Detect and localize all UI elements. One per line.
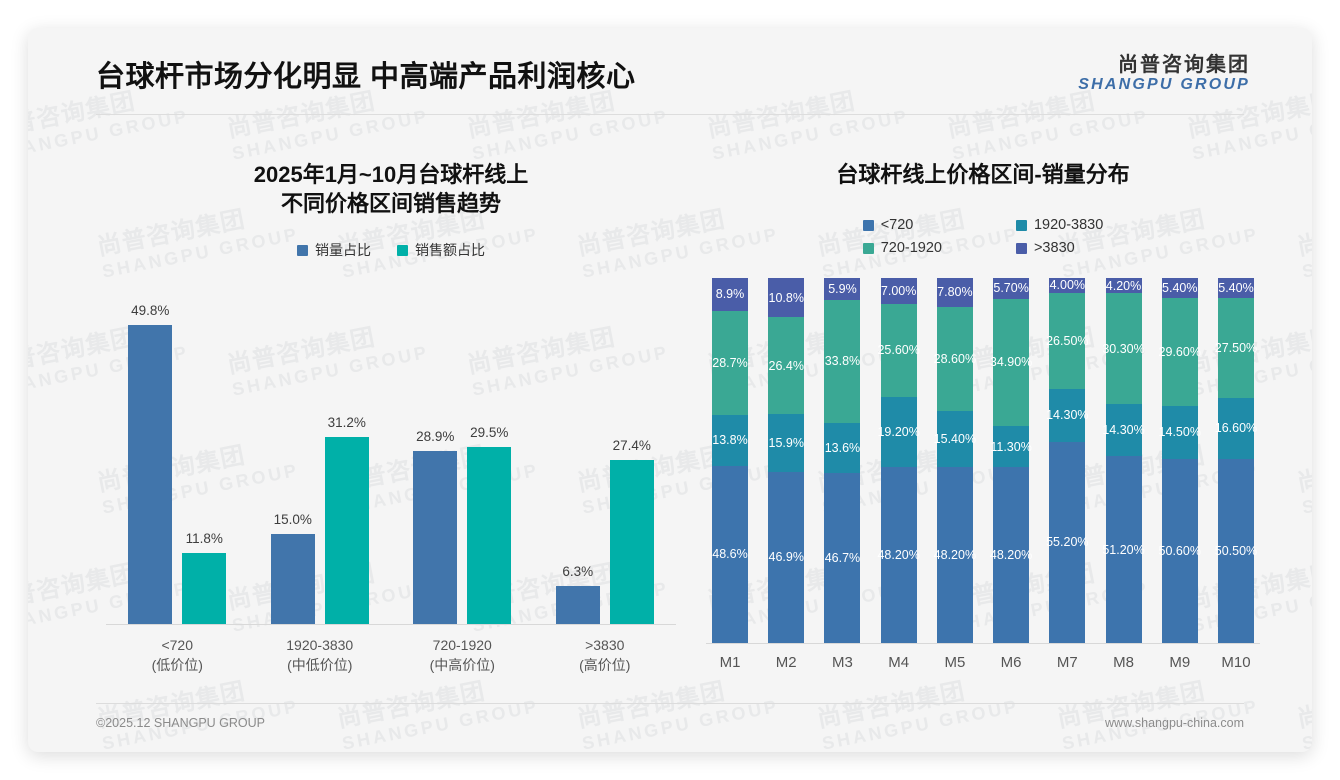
right-chart-title: 台球杆线上价格区间-销量分布 [700,138,1266,189]
page-title: 台球杆市场分化明显 中高端产品利润核心 [96,53,636,95]
segment-value-label: 5.40% [1218,281,1253,295]
bar-value-label: 11.8% [186,531,223,546]
bar[interactable]: 6.3% [556,586,600,624]
stacked-bar-segment[interactable]: 10.8% [768,278,804,317]
x-axis-category-sub: (高价位) [540,655,670,675]
bar-group: 49.8%11.8% [128,294,226,624]
bar-fill [271,534,315,624]
stacked-bar-segment[interactable]: 33.8% [824,300,860,423]
stacked-bar[interactable]: 5.9%33.8%13.6%46.7% [824,278,860,643]
right-chart-panel: 台球杆线上价格区间-销量分布 <7201920-3830720-1920>383… [700,138,1266,718]
legend-item[interactable]: 销量占比 [297,240,371,260]
legend-swatch [397,245,408,256]
segment-value-label: 34.90% [990,355,1032,369]
grouped-bar-x-axis: <720(低价位)1920-3830(中低价位)720-1920(中高价位)>3… [106,625,676,676]
segment-value-label: 27.50% [1215,341,1257,355]
stacked-bar-segment[interactable]: 48.6% [712,466,748,643]
segment-value-label: 50.60% [1159,544,1201,558]
segment-value-label: 16.60% [1215,421,1257,435]
stacked-bar[interactable]: 5.40%27.50%16.60%50.50% [1218,278,1254,643]
segment-value-label: 15.40% [934,432,976,446]
bar-value-label: 28.9% [416,429,454,444]
logo-text-cn: 尚普咨询集团 [1078,54,1250,76]
left-chart-title-line1: 2025年1月~10月台球杆线上 [96,160,686,189]
footer-divider [96,703,1244,704]
segment-value-label: 33.8% [825,354,860,368]
bar[interactable]: 29.5% [467,447,511,624]
stacked-bar-segment[interactable]: 15.40% [937,411,973,467]
legend-swatch [863,220,874,231]
legend-item[interactable]: 销售额占比 [397,240,485,260]
segment-value-label: 14.50% [1159,425,1201,439]
slide-header: 台球杆市场分化明显 中高端产品利润核心 尚普咨询集团 SHANGPU GROUP [28,28,1312,100]
stacked-bar-segment[interactable]: 55.20% [1049,442,1085,643]
stacked-bar-segment[interactable]: 4.00% [1049,278,1085,293]
segment-value-label: 26.4% [768,359,803,373]
right-chart-legend: <7201920-3830720-1920>3830 [700,217,1266,256]
segment-value-label: 13.8% [712,433,747,447]
stacked-bar-segment[interactable]: 50.50% [1218,459,1254,643]
segment-value-label: 48.20% [990,548,1032,562]
stacked-bar-segment[interactable]: 4.20% [1106,278,1142,293]
stacked-bar-segment[interactable]: 27.50% [1218,298,1254,398]
segment-value-label: 13.6% [825,441,860,455]
stacked-bar-plot: 8.9%28.7%13.8%48.6%10.8%26.4%15.9%46.9%5… [706,278,1260,644]
bar-value-label: 6.3% [562,564,593,579]
segment-value-label: 7.00% [881,284,916,298]
left-chart-title-line2: 不同价格区间销售趋势 [96,189,686,218]
segment-value-label: 4.20% [1106,279,1141,293]
stacked-bar-segment[interactable]: 29.60% [1162,298,1198,406]
x-axis-category-sub: (低价位) [112,655,242,675]
segment-value-label: 5.40% [1162,281,1197,295]
segment-value-label: 11.30% [990,440,1031,454]
stacked-bar-segment[interactable]: 16.60% [1218,398,1254,459]
watermark-text: 尚普咨询集团SHANGPU GROUP [1295,433,1312,517]
stacked-bar-segment[interactable]: 14.30% [1049,389,1085,441]
stacked-bar-segment[interactable]: 48.20% [993,467,1029,643]
legend-label: 720-1920 [881,240,942,256]
legend-label: <720 [881,217,914,233]
segment-value-label: 30.30% [1102,342,1144,356]
legend-label: 销售额占比 [415,240,485,260]
stacked-bar-segment[interactable]: 48.20% [937,467,973,643]
stacked-bar-segment[interactable]: 34.90% [993,299,1029,426]
segment-value-label: 4.00% [1050,278,1085,292]
bar-fill [467,447,511,624]
segment-value-label: 5.70% [993,281,1028,295]
bar-fill [182,553,226,624]
stacked-bar[interactable]: 5.70%34.90%11.30%48.20% [993,278,1029,643]
watermark-text: 尚普咨询集团SHANGPU GROUP [1295,669,1312,752]
x-axis-tick-label: M9 [1162,654,1198,671]
stacked-bar-segment[interactable]: 26.4% [768,317,804,413]
segment-value-label: 55.20% [1046,535,1088,549]
stacked-bar-segment[interactable]: 28.7% [712,311,748,416]
bar[interactable]: 31.2% [325,437,369,624]
stacked-bar-segment[interactable]: 11.30% [993,426,1029,467]
x-axis-tick-label: M6 [993,654,1029,671]
stacked-bar[interactable]: 7.00%25.60%19.20%48.20% [881,278,917,643]
stacked-bar[interactable]: 10.8%26.4%15.9%46.9% [768,278,804,643]
stacked-bar-segment[interactable]: 5.9% [824,278,860,300]
bar-group: 15.0%31.2% [271,294,369,624]
legend-item[interactable]: 1920-3830 [1016,217,1103,233]
stacked-bar-segment[interactable]: 5.40% [1218,278,1254,298]
bar-fill [128,325,172,624]
stacked-bar-segment[interactable]: 8.9% [712,278,748,310]
segment-value-label: 48.6% [712,547,747,561]
bar-fill [556,586,600,624]
segment-value-label: 46.9% [768,550,803,564]
stacked-bar-segment[interactable]: 5.70% [993,278,1029,299]
legend-label: >3830 [1034,240,1075,256]
segment-value-label: 7.80% [937,285,972,299]
stacked-bar-segment[interactable]: 15.9% [768,414,804,472]
legend-swatch [1016,243,1027,254]
footer-copyright: ©2025.12 SHANGPU GROUP [96,716,265,730]
stacked-bar-segment[interactable]: 51.20% [1106,456,1142,643]
stacked-bar-segment[interactable]: 48.20% [881,467,917,643]
stacked-bar-segment[interactable]: 13.8% [712,415,748,465]
x-axis-category-label: 1920-3830(中低价位) [255,635,385,676]
x-axis-category-label: >3830(高价位) [540,635,670,676]
segment-value-label: 28.7% [712,356,747,370]
segment-value-label: 15.9% [768,436,803,450]
x-axis-tick-label: M8 [1106,654,1142,671]
left-chart-title: 2025年1月~10月台球杆线上 不同价格区间销售趋势 [96,138,686,218]
stacked-bar-segment[interactable]: 14.30% [1106,404,1142,456]
segment-value-label: 29.60% [1159,345,1201,359]
stacked-bar-segment[interactable]: 26.50% [1049,293,1085,390]
legend-swatch [297,245,308,256]
legend-label: 销量占比 [315,240,371,260]
bar-value-label: 15.0% [274,512,312,527]
x-axis-category-main: >3830 [585,637,624,653]
segment-value-label: 26.50% [1046,334,1088,348]
segment-value-label: 10.8% [768,291,803,305]
watermark-text: 尚普咨询集团SHANGPU GROUP [1295,197,1312,281]
segment-value-label: 25.60% [877,343,919,357]
stacked-bar-segment[interactable]: 7.00% [881,278,917,304]
footer-website: www.shangpu-china.com [1105,716,1244,730]
bar-value-label: 31.2% [328,415,366,430]
x-axis-category-label: 720-1920(中高价位) [397,635,527,676]
bar-group: 6.3%27.4% [556,294,654,624]
x-axis-tick-label: M7 [1049,654,1085,671]
logo-text-en: SHANGPU GROUP [1078,76,1250,94]
stacked-bar-segment[interactable]: 13.6% [824,423,860,473]
slide-card: 尚普咨询集团SHANGPU GROUP尚普咨询集团SHANGPU GROUP尚普… [28,28,1312,752]
segment-value-label: 14.30% [1046,408,1088,422]
right-chart-title-line1: 台球杆线上价格区间-销量分布 [700,160,1266,189]
segment-value-label: 46.7% [825,551,860,565]
left-chart-panel: 2025年1月~10月台球杆线上 不同价格区间销售趋势 销量占比销售额占比 49… [96,138,686,718]
segment-value-label: 14.30% [1102,423,1144,437]
segment-value-label: 28.60% [934,352,976,366]
x-axis-tick-label: M4 [881,654,917,671]
x-axis-tick-label: M3 [824,654,860,671]
x-axis-category-label: <720(低价位) [112,635,242,676]
x-axis-tick-label: M5 [937,654,973,671]
bar-fill [413,451,457,624]
bar-group: 28.9%29.5% [413,294,511,624]
bar-value-label: 49.8% [131,303,169,318]
legend-item[interactable]: <720 [863,217,942,233]
stacked-bar[interactable]: 5.40%29.60%14.50%50.60% [1162,278,1198,643]
legend-item[interactable]: 720-1920 [863,240,942,256]
bar-value-label: 29.5% [470,425,508,440]
bar[interactable]: 15.0% [271,534,315,624]
stacked-bar-segment[interactable]: 28.60% [937,307,973,411]
legend-label: 1920-3830 [1034,217,1103,233]
bar-value-label: 27.4% [613,438,651,453]
stacked-bar-segment[interactable]: 46.7% [824,473,860,643]
legend-swatch [863,243,874,254]
stacked-bar[interactable]: 8.9%28.7%13.8%48.6% [712,278,748,643]
stacked-bar-segment[interactable]: 7.80% [937,278,973,306]
x-axis-tick-label: M1 [712,654,748,671]
bar[interactable]: 28.9% [413,451,457,624]
bar[interactable]: 49.8% [128,325,172,624]
x-axis-tick-label: M10 [1218,654,1254,671]
bar-fill [610,460,654,624]
segment-value-label: 51.20% [1102,543,1144,557]
bar-fill [325,437,369,624]
stacked-bar-segment[interactable]: 19.20% [881,397,917,467]
grouped-bar-plot: 49.8%11.8%15.0%31.2%28.9%29.5%6.3%27.4% [106,294,676,625]
bar[interactable]: 11.8% [182,553,226,624]
segment-value-label: 5.9% [828,282,857,296]
stacked-bar-segment[interactable]: 25.60% [881,304,917,397]
brand-logo: 尚普咨询集团 SHANGPU GROUP [1078,54,1250,94]
x-axis-category-main: 720-1920 [433,637,492,653]
segment-value-label: 8.9% [716,287,745,301]
segment-value-label: 19.20% [877,425,919,439]
header-divider [96,114,1244,115]
stacked-bar-segment[interactable]: 5.40% [1162,278,1198,298]
stacked-bar[interactable]: 7.80%28.60%15.40%48.20% [937,278,973,643]
stacked-bar-segment[interactable]: 50.60% [1162,459,1198,644]
stacked-bar[interactable]: 4.20%30.30%14.30%51.20% [1106,278,1142,643]
legend-swatch [1016,220,1027,231]
bar[interactable]: 27.4% [610,460,654,624]
x-axis-category-main: <720 [161,637,193,653]
segment-value-label: 50.50% [1215,544,1257,558]
stacked-bar-segment[interactable]: 46.9% [768,472,804,643]
stacked-bar-segment[interactable]: 14.50% [1162,406,1198,459]
segment-value-label: 48.20% [877,548,919,562]
x-axis-category-main: 1920-3830 [286,637,353,653]
left-chart-legend: 销量占比销售额占比 [96,240,686,260]
x-axis-category-sub: (中高价位) [397,655,527,675]
stacked-bar[interactable]: 4.00%26.50%14.30%55.20% [1049,278,1085,643]
x-axis-category-sub: (中低价位) [255,655,385,675]
stacked-bar-segment[interactable]: 30.30% [1106,293,1142,404]
x-axis-tick-label: M2 [768,654,804,671]
stacked-bar-x-axis: M1M2M3M4M5M6M7M8M9M10 [706,644,1260,671]
segment-value-label: 48.20% [934,548,976,562]
legend-item[interactable]: >3830 [1016,240,1103,256]
